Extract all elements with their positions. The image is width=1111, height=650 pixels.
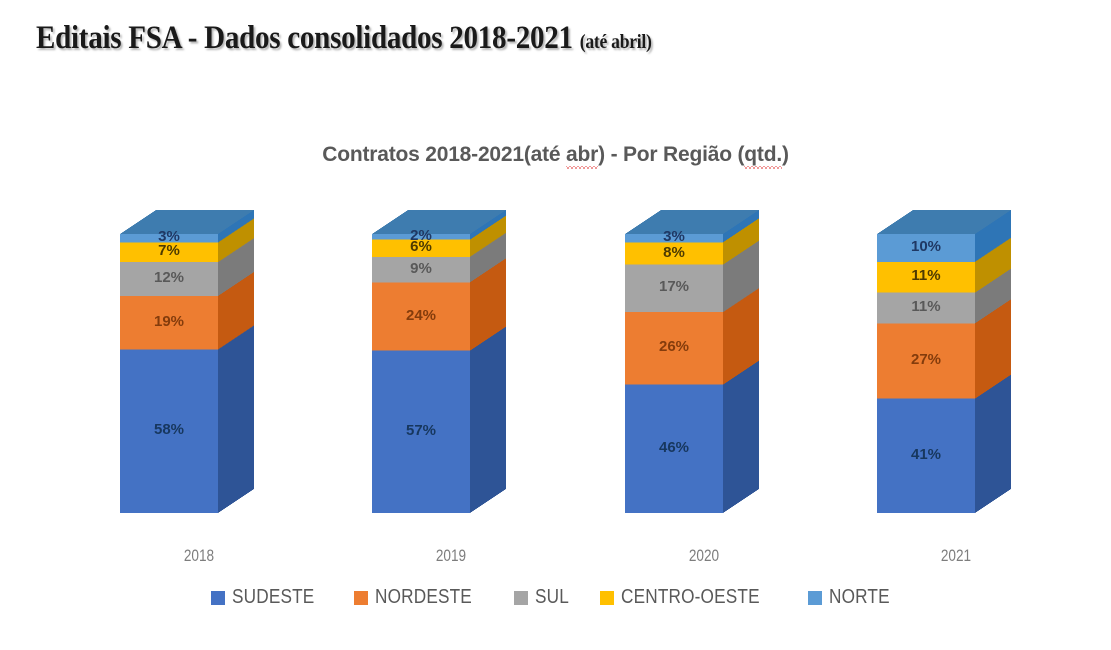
category-label-2021: 2021: [904, 546, 1008, 566]
bar-side-2021-NORDESTE: [975, 299, 1011, 398]
bar-side-2018-NORTE: [218, 210, 254, 242]
bar-face-2019-CENTRO-OESTE: [372, 240, 470, 257]
category-label-2020: 2020: [652, 546, 756, 566]
bar-side-2018-SUL: [218, 238, 254, 296]
bar-side-2020-SUDESTE: [723, 361, 759, 513]
data-label-2021-NORTE: 10%: [877, 238, 975, 255]
legend-item-centro-oeste[interactable]: CENTRO-OESTE: [600, 586, 782, 609]
bar-side-2018-SUDESTE: [218, 326, 254, 513]
bar-top-2018: [120, 210, 254, 234]
bar-top-2021: [877, 210, 1011, 234]
bar-side-2019-SUL: [470, 233, 506, 283]
data-label-2018-NORDESTE: 19%: [120, 313, 218, 330]
bar-side-2021-SUL: [975, 269, 1011, 324]
legend-label: NORTE: [829, 586, 890, 609]
data-label-2019-CENTRO-OESTE: 6%: [372, 238, 470, 255]
data-label-2018-SUL: 12%: [120, 269, 218, 286]
legend-item-sudeste[interactable]: SUDESTE: [211, 586, 328, 609]
legend-item-norte[interactable]: NORTE: [808, 586, 900, 609]
data-label-2020-NORDESTE: 26%: [625, 338, 723, 355]
bar-face-2018-NORDESTE: [120, 296, 218, 350]
bar-side-2021-CENTRO-OESTE: [975, 238, 1011, 293]
legend-swatch-icon: [211, 591, 225, 605]
legend-label: SUL: [535, 586, 569, 609]
bar-face-2019-SUL: [372, 257, 470, 283]
bar-side-2021-NORTE: [975, 210, 1011, 262]
bar-side-2019-NORDESTE: [470, 258, 506, 350]
category-label-2019: 2019: [399, 546, 503, 566]
bar-face-2019-SUDESTE: [372, 351, 470, 513]
legend-swatch-icon: [808, 591, 822, 605]
bar-top-2019: [372, 210, 506, 234]
bar-face-2021-NORDESTE: [877, 323, 975, 398]
bar-side-2019-NORTE: [470, 210, 506, 240]
data-label-2018-CENTRO-OESTE: 7%: [120, 242, 218, 259]
data-label-2019-SUL: 9%: [372, 260, 470, 277]
data-label-2019-SUDESTE: 57%: [372, 422, 470, 439]
bar-side-2019-SUDESTE: [470, 327, 506, 513]
bar-face-2021-CENTRO-OESTE: [877, 262, 975, 293]
data-label-2021-CENTRO-OESTE: 11%: [877, 267, 975, 284]
bar-face-2021-SUDESTE: [877, 399, 975, 513]
bar-face-2019-NORDESTE: [372, 282, 470, 350]
slide-canvas: Editais FSA - Dados consolidados 2018-20…: [0, 0, 1111, 650]
data-label-2021-SUDESTE: 41%: [877, 446, 975, 463]
data-label-2020-CENTRO-OESTE: 8%: [625, 244, 723, 261]
legend-label: CENTRO-OESTE: [621, 586, 760, 609]
bar-face-2019-NORTE: [372, 234, 470, 240]
category-label-2018: 2018: [147, 546, 251, 566]
bar-face-2020-SUDESTE: [625, 385, 723, 513]
bar-side-2018-NORDESTE: [218, 272, 254, 350]
bar-face-2020-NORTE: [625, 234, 723, 242]
bar-side-2020-NORTE: [723, 210, 759, 242]
bar-side-2020-SUL: [723, 241, 759, 312]
bar-face-2018-SUL: [120, 262, 218, 296]
bar-face-2020-CENTRO-OESTE: [625, 242, 723, 264]
legend-label: SUDESTE: [232, 586, 314, 609]
bar-face-2020-NORDESTE: [625, 312, 723, 385]
legend-item-nordeste[interactable]: NORDESTE: [354, 586, 488, 609]
chart-plot-area: 58%19%12%7%3%201857%24%9%6%2%201946%26%1…: [0, 0, 1111, 650]
bar-side-2018-CENTRO-OESTE: [218, 218, 254, 262]
data-label-2021-SUL: 11%: [877, 298, 975, 315]
bar-side-2021-SUDESTE: [975, 375, 1011, 513]
legend-label: NORDESTE: [375, 586, 472, 609]
data-label-2018-NORTE: 3%: [120, 228, 218, 245]
legend-swatch-icon: [600, 591, 614, 605]
bar-face-2018-CENTRO-OESTE: [120, 242, 218, 262]
bar-side-2020-NORDESTE: [723, 288, 759, 385]
data-label-2020-NORTE: 3%: [625, 228, 723, 245]
bar-face-2020-SUL: [625, 265, 723, 312]
bar-face-2021-NORTE: [877, 234, 975, 262]
data-label-2020-SUL: 17%: [625, 278, 723, 295]
data-label-2019-NORDESTE: 24%: [372, 307, 470, 324]
bar-face-2021-SUL: [877, 293, 975, 324]
bar-top-2020: [625, 210, 759, 234]
bar-face-2018-NORTE: [120, 234, 218, 242]
bar-side-2020-CENTRO-OESTE: [723, 218, 759, 264]
legend-swatch-icon: [514, 591, 528, 605]
chart-legend: SUDESTENORDESTESULCENTRO-OESTENORTE: [0, 586, 1111, 609]
legend-item-sul[interactable]: SUL: [514, 586, 575, 609]
legend-swatch-icon: [354, 591, 368, 605]
data-label-2021-NORDESTE: 27%: [877, 351, 975, 368]
data-label-2019-NORTE: 2%: [372, 227, 470, 244]
bar-face-2018-SUDESTE: [120, 350, 218, 513]
data-label-2020-SUDESTE: 46%: [625, 439, 723, 456]
bar-side-2019-CENTRO-OESTE: [470, 216, 506, 257]
data-label-2018-SUDESTE: 58%: [120, 421, 218, 438]
